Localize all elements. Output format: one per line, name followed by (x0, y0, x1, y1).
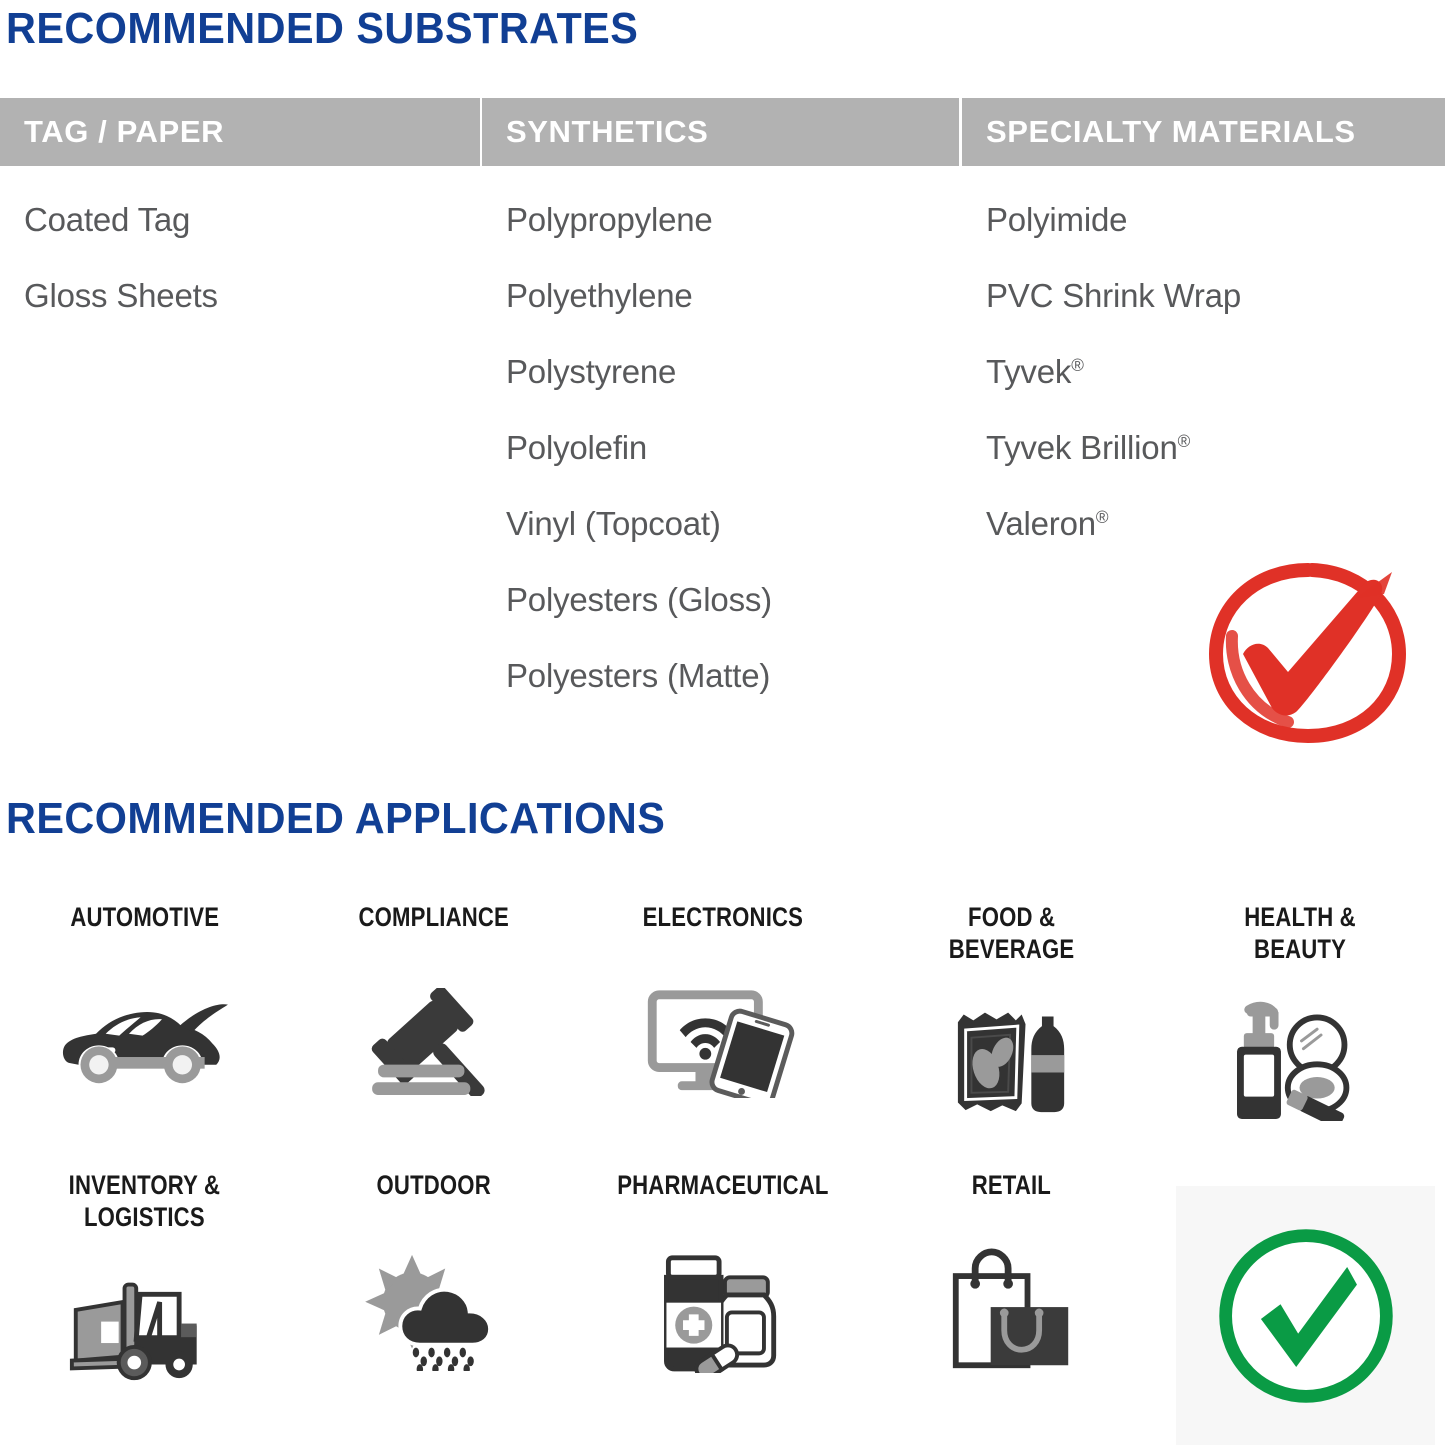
page-root: RECOMMENDED SUBSTRATES TAG / PAPER Coate… (0, 0, 1445, 1445)
column-header-synthetics: SYNTHETICS (482, 98, 959, 166)
application-label: PHARMACEUTICAL (617, 1170, 828, 1202)
application-label: FOOD & BEVERAGE (949, 902, 1075, 966)
application-cell-automotive[interactable]: AUTOMOTIVE (0, 878, 289, 1146)
table-column-synthetics: SYNTHETICS Polypropylene Polyethylene Po… (482, 98, 959, 738)
column-header-tag-paper: TAG / PAPER (0, 98, 480, 166)
application-cell-pharmaceutical[interactable]: PHARMACEUTICAL (578, 1146, 867, 1414)
list-item: Polystyrene (482, 334, 959, 410)
column-list-specialty-materials: Polyimide PVC Shrink Wrap Tyvek® Tyvek B… (962, 166, 1445, 562)
green-circled-checkmark-badge (1176, 1186, 1435, 1445)
application-cell-retail[interactable]: RETAIL (867, 1146, 1156, 1414)
list-item: Polyesters (Matte) (482, 638, 959, 714)
list-item: Polyesters (Gloss) (482, 562, 959, 638)
application-cell-electronics[interactable]: ELECTRONICS (578, 878, 867, 1146)
application-label: INVENTORY & LOGISTICS (69, 1170, 220, 1234)
application-cell-outdoor[interactable]: OUTDOOR (289, 1146, 578, 1414)
cosmetics-icon (1156, 970, 1445, 1146)
list-item: Polyolefin (482, 410, 959, 486)
application-cell-health-beauty[interactable]: HEALTH & BEAUTY (1156, 878, 1445, 1146)
list-item: Valeron® (962, 486, 1445, 562)
shopping-bags-icon (867, 1206, 1156, 1414)
list-item: Coated Tag (0, 182, 480, 258)
application-cell-food-beverage[interactable]: FOOD & BEVERAGE (867, 878, 1156, 1146)
list-item: Vinyl (Topcoat) (482, 486, 959, 562)
forklift-icon (0, 1238, 289, 1414)
applications-section-heading: RECOMMENDED APPLICATIONS (6, 794, 665, 844)
snack-bottle-icon (867, 970, 1156, 1146)
green-check-icon (1208, 1218, 1404, 1414)
application-label: AUTOMOTIVE (70, 902, 219, 934)
application-label: HEALTH & BEAUTY (1245, 902, 1357, 966)
list-item: PVC Shrink Wrap (962, 258, 1445, 334)
application-cell-inventory-logistics[interactable]: INVENTORY & LOGISTICS (0, 1146, 289, 1414)
sun-rain-cloud-icon (289, 1206, 578, 1414)
pill-bottles-icon (578, 1206, 867, 1414)
application-label: OUTDOOR (376, 1170, 490, 1202)
application-cell-compliance[interactable]: COMPLIANCE (289, 878, 578, 1146)
list-item: Tyvek® (962, 334, 1445, 410)
gavel-icon (289, 938, 578, 1146)
application-label: COMPLIANCE (358, 902, 508, 934)
column-list-synthetics: Polypropylene Polyethylene Polystyrene P… (482, 166, 959, 714)
application-label: RETAIL (972, 1170, 1051, 1202)
red-circled-checkmark-icon (1196, 558, 1418, 748)
monitor-tablet-icon (578, 938, 867, 1146)
list-item: Polyimide (962, 182, 1445, 258)
application-label: ELECTRONICS (642, 902, 802, 934)
list-item: Gloss Sheets (0, 258, 480, 334)
column-header-specialty-materials: SPECIALTY MATERIALS (962, 98, 1445, 166)
list-item: Polypropylene (482, 182, 959, 258)
car-icon (0, 938, 289, 1146)
table-column-tag-paper: TAG / PAPER Coated Tag Gloss Sheets (0, 98, 480, 738)
substrates-section-heading: RECOMMENDED SUBSTRATES (6, 4, 638, 54)
list-item: Tyvek Brillion® (962, 410, 1445, 486)
list-item: Polyethylene (482, 258, 959, 334)
column-list-tag-paper: Coated Tag Gloss Sheets (0, 166, 480, 334)
